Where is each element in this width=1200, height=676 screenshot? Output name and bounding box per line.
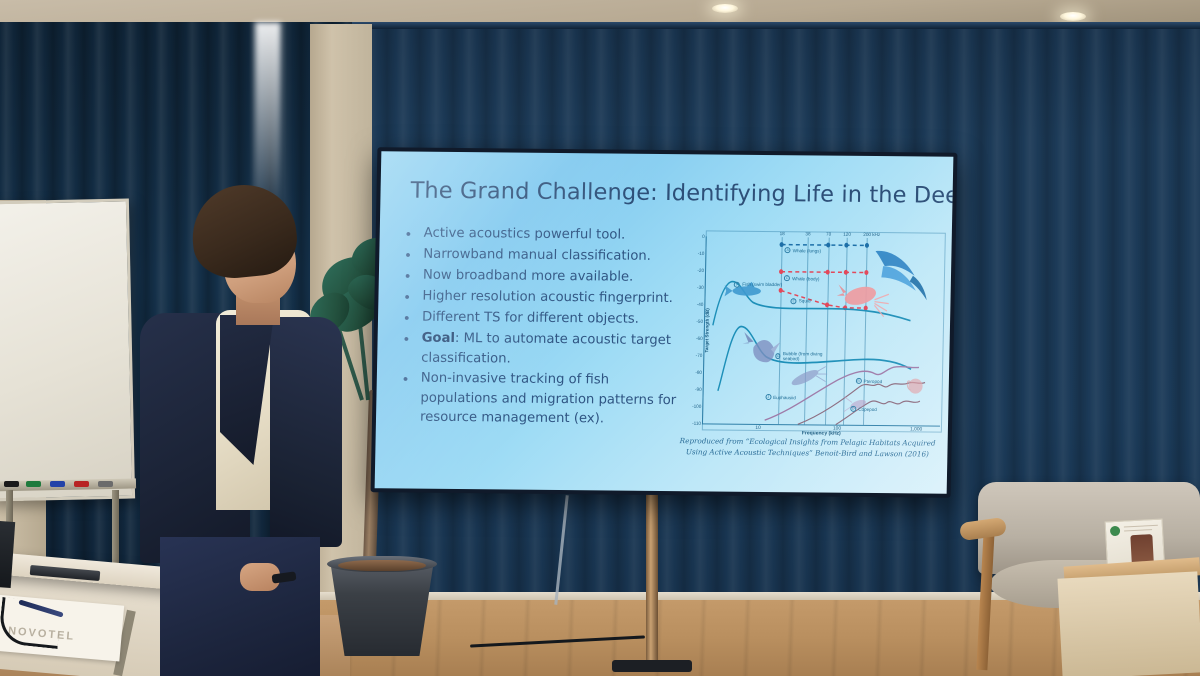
hair <box>187 180 300 282</box>
series-badge: J <box>765 394 771 400</box>
list-item-label: Non-invasive tracking of fish population… <box>420 369 683 430</box>
series-annotation-label: Whale (body) <box>792 276 819 281</box>
chart-series-layer <box>703 236 944 425</box>
marker-red-icon[interactable] <box>74 481 89 487</box>
series-copepod <box>836 400 920 425</box>
list-item-label: Higher resolution acoustic fingerprint. <box>422 287 673 309</box>
list-item-label: Narrowband manual classification. <box>423 245 651 267</box>
page-title: The Grand Challenge: Identifying Life in… <box>410 178 953 209</box>
series-badge: A <box>785 247 791 253</box>
series-annotation-label: Squid <box>799 299 811 304</box>
whale-illustration <box>875 251 928 300</box>
series-badge: D <box>850 406 856 412</box>
series-annotation-squid: E Squid <box>791 298 811 304</box>
stand-text-line <box>1124 529 1152 532</box>
series-annotation-fish: F Fish (swim bladder) <box>734 282 782 288</box>
x-axis-tick: 1,000 <box>910 425 922 432</box>
squid-illustration <box>836 284 889 317</box>
tv-stand-base <box>612 660 692 672</box>
y-axis-tick: -60 <box>696 336 705 341</box>
y-axis-tick: -40 <box>697 302 706 307</box>
x-axis-tick: 10 <box>755 424 760 431</box>
marker-black-icon[interactable] <box>4 481 19 487</box>
y-axis-tick: -50 <box>696 319 705 324</box>
series-annotation-label: Copepod <box>858 407 877 412</box>
jacket-right <box>270 317 342 547</box>
series-annotation-euphausiid: J Euphausiid <box>765 394 796 400</box>
list-item: ● Narrowband manual classification. <box>405 245 685 268</box>
y-axis-tick: -100 <box>692 404 703 409</box>
pteropod-illustration <box>907 379 923 394</box>
target-strength-chart: Target Strength (dB) 0 -10 -20 -30 -40 -… <box>675 222 948 455</box>
stand-text-line <box>1124 525 1158 528</box>
list-item-label: Now broadband more available. <box>423 266 634 288</box>
ceiling-light-icon <box>712 4 738 13</box>
bullet-dot-icon: ● <box>403 329 410 349</box>
plant-soil <box>338 560 426 571</box>
y-axis-tick: -20 <box>697 268 706 273</box>
list-item-rest: : ML to automate acoustic target classif… <box>421 331 671 366</box>
y-axis-tick: -110 <box>692 421 703 426</box>
x-axis-tick: 100 <box>833 425 841 432</box>
euphausiid-illustration <box>790 366 827 388</box>
slide-surface: The Grand Challenge: Identifying Life in… <box>375 151 954 493</box>
series-badge: F <box>734 282 740 288</box>
marker-green-icon[interactable] <box>26 481 41 487</box>
series-annotation-bubble: G Bubble (from diving seabird) <box>775 351 831 362</box>
figure-caption: Reproduced from “Ecological Insights fro… <box>671 436 943 460</box>
bullet-dot-icon: ● <box>404 287 411 307</box>
list-item: ● Higher resolution acoustic fingerprint… <box>404 287 684 310</box>
list-item: ● Different TS for different objects. <box>404 308 684 331</box>
bullet-dot-icon: ● <box>403 368 410 388</box>
list-item-label: Different TS for different objects. <box>422 308 639 330</box>
y-axis-tick: -10 <box>698 251 707 256</box>
plant-pot <box>330 560 434 656</box>
marker-blue-icon[interactable] <box>50 481 65 487</box>
series-badge: E <box>791 298 797 304</box>
list-item-bold-prefix: Goal <box>421 331 455 346</box>
series-annotation-whale-lungs: A Whale (lungs) <box>785 247 821 253</box>
series-badge: G <box>775 353 781 359</box>
y-axis-tick: -80 <box>695 370 704 375</box>
brand-logo-icon <box>1110 526 1121 537</box>
list-item: ● Now broadband more available. <box>405 266 685 289</box>
chart-plot-area: Target Strength (dB) 0 -10 -20 -30 -40 -… <box>702 236 944 426</box>
series-annotation-label: Bubble (from diving seabird) <box>783 351 832 361</box>
series-badge: B <box>855 378 861 384</box>
wooden-table-surface <box>1057 571 1200 676</box>
ceiling-light-icon <box>1060 12 1086 21</box>
y-axis-tick: -30 <box>697 285 706 290</box>
presentation-screen[interactable]: The Grand Challenge: Identifying Life in… <box>371 147 958 497</box>
y-axis-tick: -90 <box>695 387 704 392</box>
tv-stand-pole <box>646 478 658 668</box>
series-annotation-label: Whale (lungs) <box>793 248 821 253</box>
list-item-label: Active acoustics powerful tool. <box>424 224 626 245</box>
presenter <box>120 185 340 676</box>
series-annotation-label: Fish (swim bladder) <box>742 282 782 287</box>
marker-gray-icon[interactable] <box>98 481 113 487</box>
bullet-dot-icon: ● <box>406 224 413 244</box>
list-item: ● Goal: ML to automate acoustic target c… <box>403 329 684 371</box>
list-item-label: Goal: ML to automate acoustic target cla… <box>421 329 684 371</box>
whiteboard <box>0 198 135 501</box>
series-badge: C <box>784 275 790 281</box>
presentation-room-photo: NOVOTEL The Grand Challenge: Identifying… <box>0 0 1200 676</box>
series-whale-body <box>779 269 869 275</box>
bullet-dot-icon: ● <box>404 308 411 328</box>
bullet-dot-icon: ● <box>405 266 412 286</box>
bullet-dot-icon: ● <box>405 245 412 265</box>
bullet-list: ● Active acoustics powerful tool. ● Narr… <box>402 224 686 431</box>
y-axis-tick: -70 <box>696 353 705 358</box>
series-annotation-copepod: D Copepod <box>850 406 877 412</box>
trousers <box>160 537 320 676</box>
series-annotation-pteropod: B Pteropod <box>855 378 882 384</box>
series-annotation-whale-body: C Whale (body) <box>784 275 819 281</box>
list-item: ● Non-invasive tracking of fish populati… <box>402 368 683 429</box>
series-annotation-label: Pteropod <box>863 379 882 384</box>
list-item: ● Active acoustics powerful tool. <box>406 224 686 247</box>
series-annotation-label: Euphausiid <box>773 395 796 400</box>
